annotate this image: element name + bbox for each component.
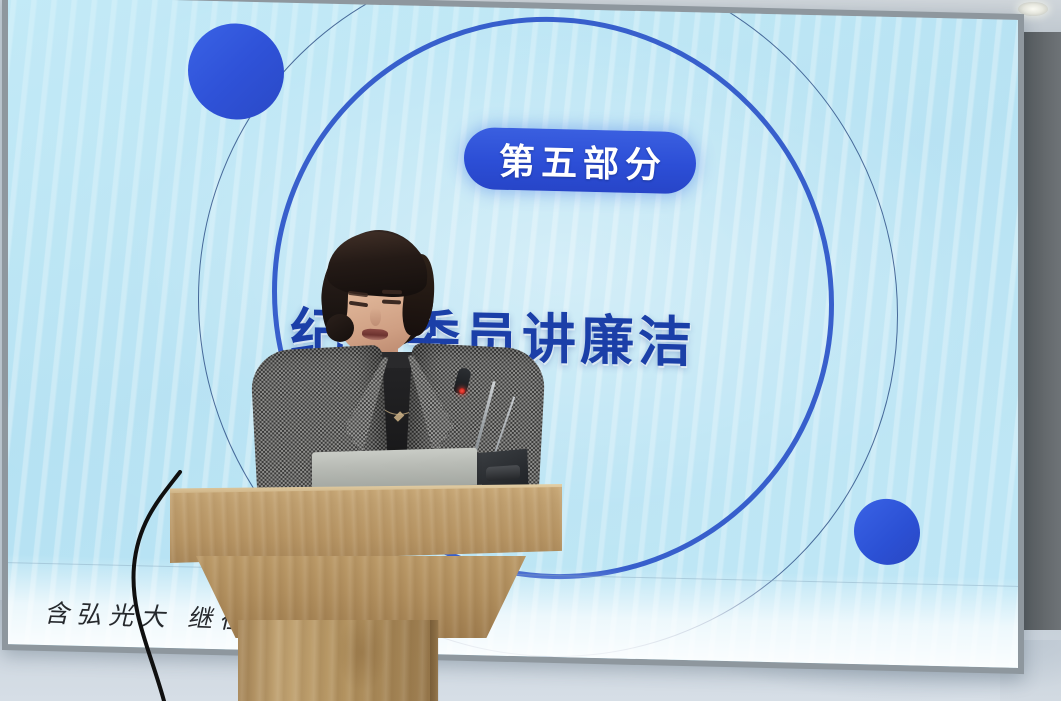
podium-column-shadow <box>430 620 439 701</box>
speaker-layer <box>0 0 1061 701</box>
hair-bun <box>326 314 354 342</box>
podium-top <box>170 487 562 563</box>
hair-front <box>326 229 430 300</box>
eyebrow-right <box>382 290 402 295</box>
microphone-led-indicator <box>459 388 465 394</box>
presentation-photo: 第五部分 纪委委员讲廉洁 含弘光大 继往开来 <box>0 0 1061 701</box>
podium-column <box>238 620 438 701</box>
podium-top-woodgrain <box>170 487 562 563</box>
podium-column-woodgrain <box>238 620 438 701</box>
microphone-base <box>486 465 520 481</box>
nose <box>370 308 381 326</box>
